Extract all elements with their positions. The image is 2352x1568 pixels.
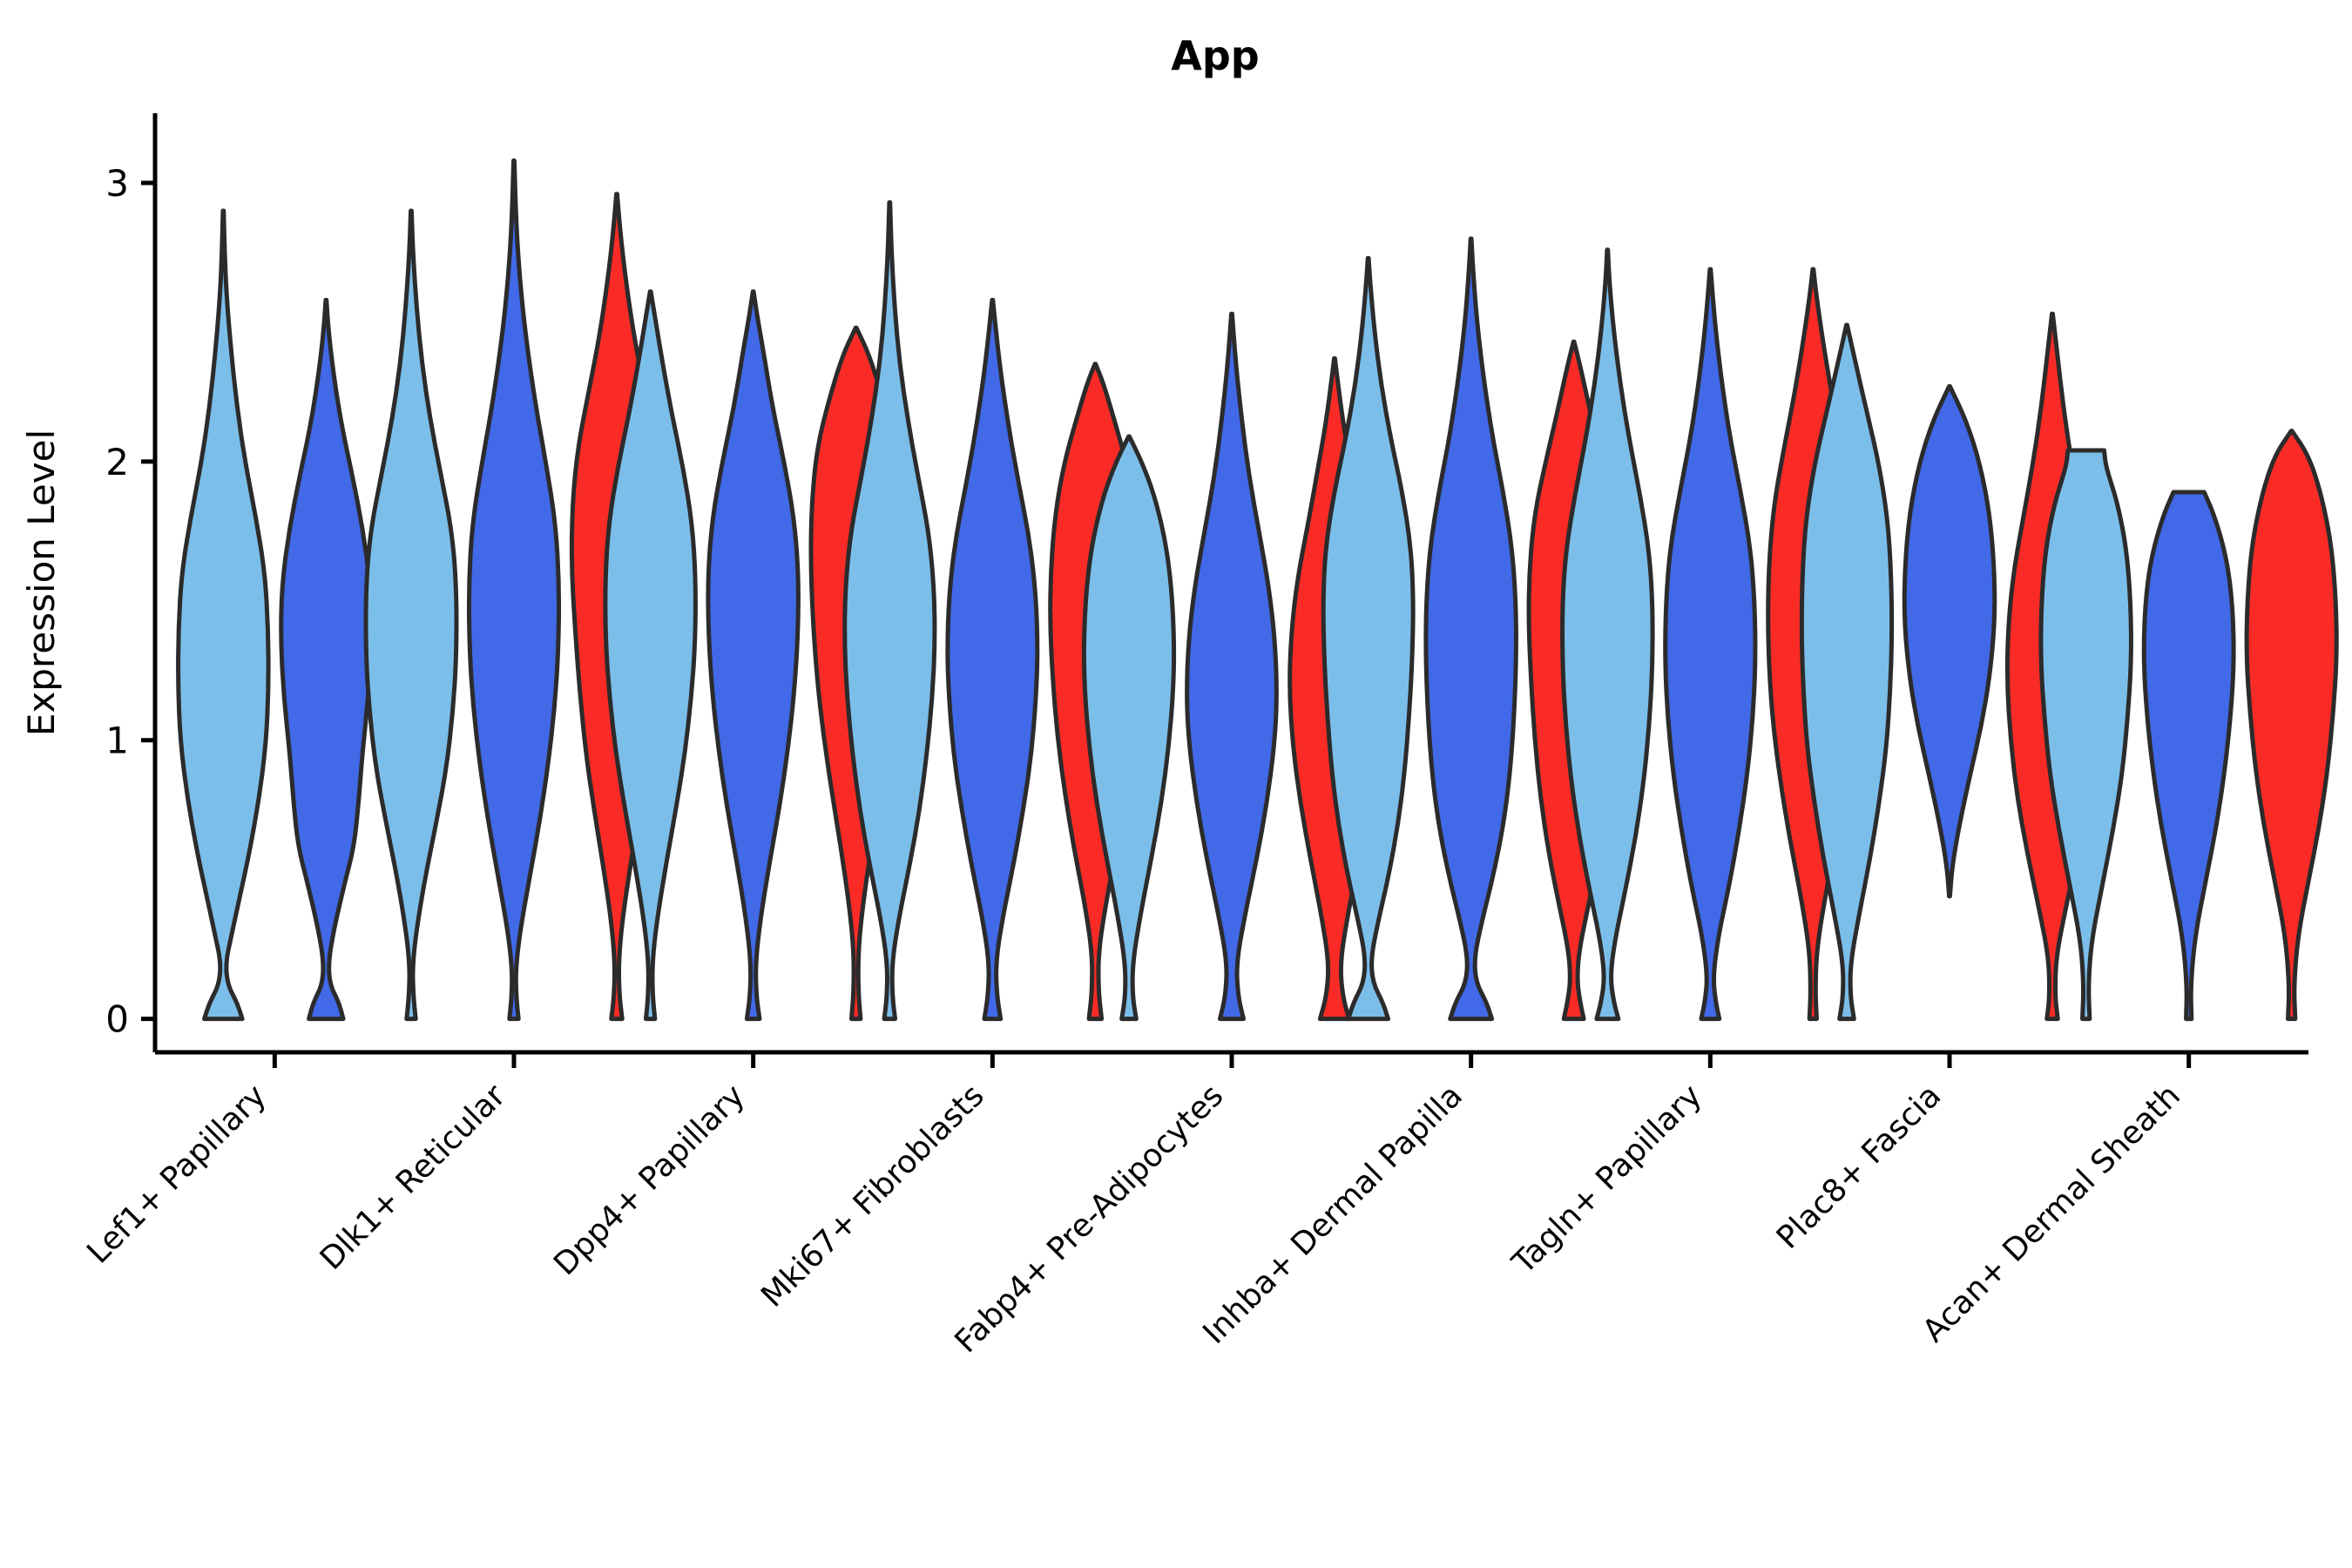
y-tick-label: 0: [105, 998, 129, 1041]
y-tick-label: 3: [105, 162, 129, 205]
y-tick-label: 2: [105, 441, 129, 483]
y-tick-label: 1: [105, 720, 129, 762]
page-title: App: [1171, 32, 1259, 79]
y-axis-label: Expression Level: [20, 429, 63, 736]
plot-canvas: App Expression Level 0123 Lef1+ Papillar…: [0, 0, 2352, 1568]
violin-plot-figure: App Expression Level 0123 Lef1+ Papillar…: [0, 0, 2352, 1568]
